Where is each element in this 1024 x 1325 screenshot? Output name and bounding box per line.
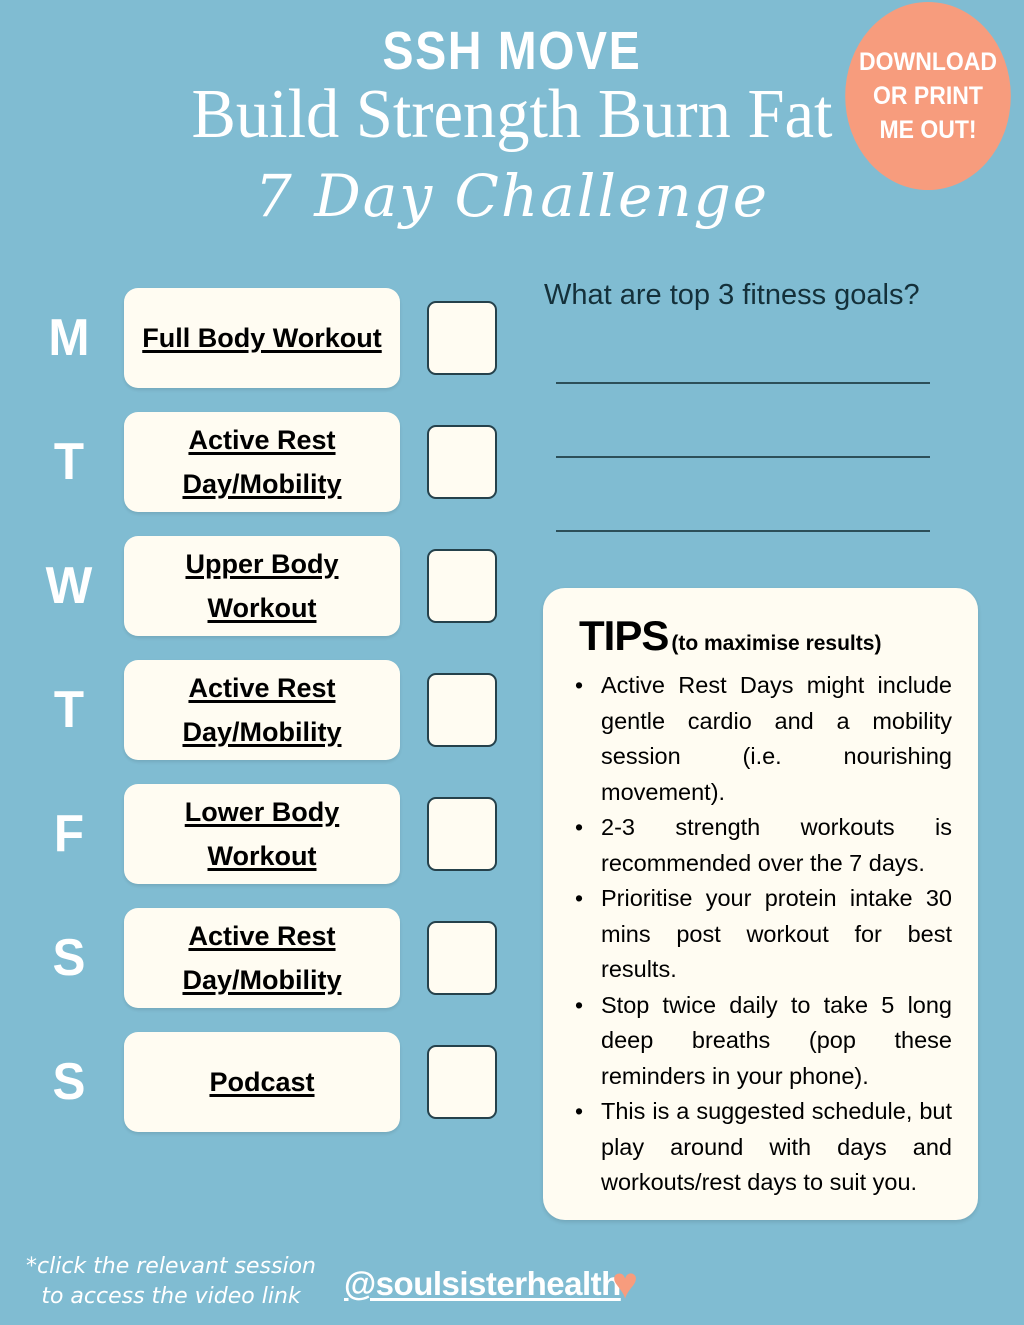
tip-item: Active Rest Days might include gentle ca…	[597, 668, 952, 810]
day-letter: W	[40, 536, 99, 636]
badge-line-3: ME OUT!	[879, 113, 976, 147]
day-letter: T	[40, 412, 99, 512]
session-card-tuesday[interactable]: Active Rest Day/Mobility	[124, 412, 400, 512]
session-card-thursday[interactable]: Active Rest Day/Mobility	[124, 660, 400, 760]
day-letter: F	[40, 784, 99, 884]
completion-checkbox-thursday[interactable]	[427, 673, 497, 747]
schedule-row-wednesday: W Upper Body Workout	[0, 536, 520, 636]
schedule-row-sunday: S Podcast	[0, 1032, 520, 1132]
header-banner: SSH MOVE Build Strength Burn Fat 7 Day C…	[0, 0, 1024, 262]
session-label: Podcast	[201, 1062, 322, 1102]
schedule-row-saturday: S Active Rest Day/Mobility	[0, 908, 520, 1008]
completion-checkbox-wednesday[interactable]	[427, 549, 497, 623]
fitness-goals-section: What are top 3 fitness goals?	[540, 278, 990, 312]
completion-checkbox-monday[interactable]	[427, 301, 497, 375]
session-label: Full Body Workout	[134, 316, 389, 360]
tip-item: Prioritise your protein intake 30 mins p…	[597, 881, 952, 988]
goals-question: What are top 3 fitness goals?	[544, 278, 990, 312]
session-label: Upper Body Workout	[124, 542, 400, 630]
badge-line-1: DOWNLOAD	[859, 45, 997, 79]
heart-icon: ♥	[612, 1260, 638, 1308]
session-card-friday[interactable]: Lower Body Workout	[124, 784, 400, 884]
tips-heading: TIPS (to maximise results)	[579, 614, 952, 658]
completion-checkbox-sunday[interactable]	[427, 1045, 497, 1119]
session-label: Active Rest Day/Mobility	[124, 418, 400, 506]
tips-card: TIPS (to maximise results) Active Rest D…	[543, 588, 978, 1220]
badge-line-2: OR PRINT	[873, 79, 983, 113]
weekly-schedule: M Full Body Workout T Active Rest Day/Mo…	[0, 288, 520, 1156]
session-label: Active Rest Day/Mobility	[124, 914, 400, 1002]
day-letter: T	[40, 660, 99, 760]
completion-checkbox-tuesday[interactable]	[427, 425, 497, 499]
footer: *click the relevant session to access th…	[0, 1246, 1024, 1325]
completion-checkbox-friday[interactable]	[427, 797, 497, 871]
tip-item: Stop twice daily to take 5 long deep bre…	[597, 988, 952, 1095]
day-letter: M	[40, 288, 99, 388]
tips-list: Active Rest Days might include gentle ca…	[567, 668, 952, 1201]
download-or-print-badge[interactable]: DOWNLOAD OR PRINT ME OUT!	[845, 2, 1011, 190]
session-card-sunday[interactable]: Podcast	[124, 1032, 400, 1132]
session-label: Active Rest Day/Mobility	[124, 666, 400, 754]
instagram-handle-link[interactable]: @soulsisterhealth	[344, 1264, 621, 1304]
footer-note: *click the relevant session to access th…	[16, 1252, 326, 1312]
session-card-saturday[interactable]: Active Rest Day/Mobility	[124, 908, 400, 1008]
brand-title: SSH MOVE	[72, 22, 953, 80]
session-label: Lower Body Workout	[124, 790, 400, 878]
session-card-monday[interactable]: Full Body Workout	[124, 288, 400, 388]
schedule-row-tuesday: T Active Rest Day/Mobility	[0, 412, 520, 512]
tip-item: This is a suggested schedule, but play a…	[597, 1094, 952, 1201]
schedule-row-monday: M Full Body Workout	[0, 288, 520, 388]
subheadline: 7 Day Challenge	[0, 160, 1024, 232]
day-letter: S	[40, 1032, 99, 1132]
completion-checkbox-saturday[interactable]	[427, 921, 497, 995]
tip-item: 2-3 strength workouts is recommended ove…	[597, 810, 952, 881]
goal-write-in-line-3[interactable]	[556, 530, 930, 532]
goal-write-in-line-1[interactable]	[556, 382, 930, 384]
schedule-row-friday: F Lower Body Workout	[0, 784, 520, 884]
goal-write-in-line-2[interactable]	[556, 456, 930, 458]
tips-heading-main: TIPS	[579, 614, 668, 658]
tips-heading-sub: (to maximise results)	[671, 632, 881, 656]
day-letter: S	[40, 908, 99, 1008]
schedule-row-thursday: T Active Rest Day/Mobility	[0, 660, 520, 760]
session-card-wednesday[interactable]: Upper Body Workout	[124, 536, 400, 636]
